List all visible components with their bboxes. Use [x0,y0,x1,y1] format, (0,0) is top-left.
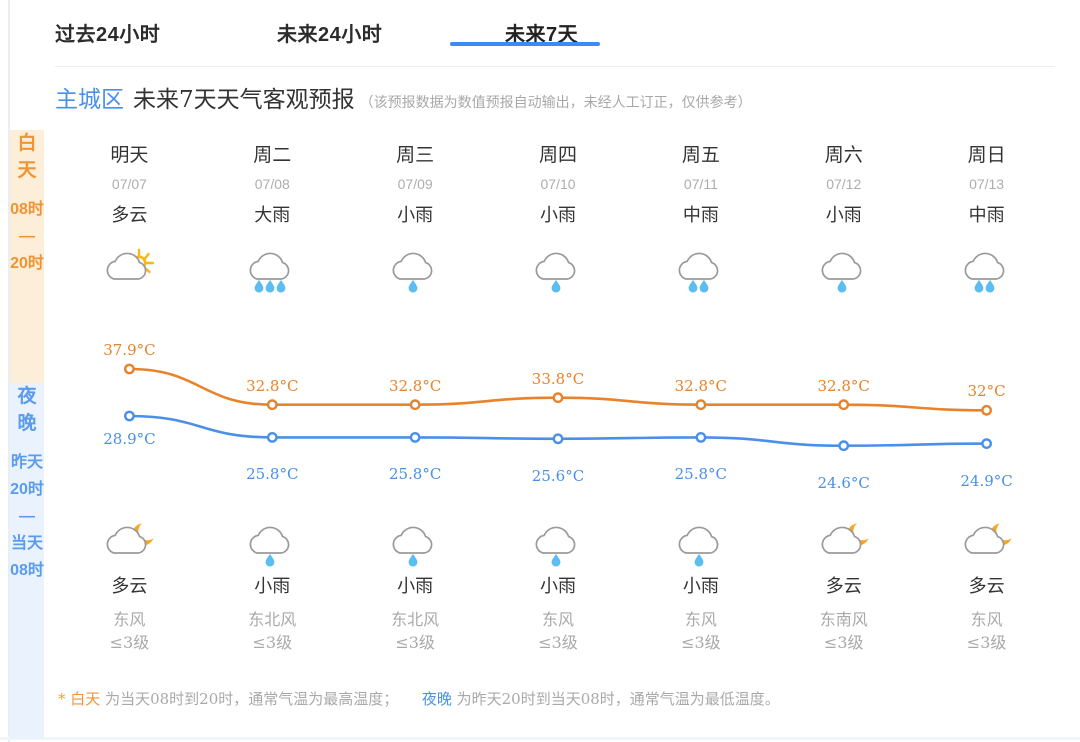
high-temp-label: 32°C [956,382,1018,400]
day-weekday: 周五 [629,140,772,167]
footer-note: * 白天 为当天08时到20时，通常气温为最高温度； 夜晚 为昨天20时到当天0… [58,688,1058,709]
spacer [10,184,44,196]
forecast-title: 未来7天天气客观预报 [133,80,355,114]
day-header-row: 明天07/07多云周二07/08大雨周三07/09小雨周四07/10小雨周五07… [58,140,1058,250]
low-temp-label: 28.9°C [98,430,160,448]
day-column[interactable]: 周六07/12小雨 [772,140,915,250]
night-condition: 多云 [58,572,201,598]
cloud-light-rain-icon [487,522,630,574]
day-weekday: 周二 [201,140,344,167]
day-column[interactable]: 周日07/13中雨 [915,140,1058,250]
cloud-moon-icon [915,522,1058,574]
wind-level: ≤3级 [395,633,435,652]
wind-direction: 东风 [685,610,717,629]
wind-level: ≤3级 [824,633,864,652]
wind-info: 东风≤3级 [629,608,772,654]
day-condition: 小雨 [487,201,630,227]
tab-next-24h[interactable]: 未来24小时 [277,18,382,47]
wind-info: 东风≤3级 [58,608,201,654]
wind-level: ≤3级 [967,633,1007,652]
tab-bar-divider [55,66,1055,67]
footer-asterisk: * [58,690,66,708]
tab-past-24h[interactable]: 过去24小时 [55,18,160,47]
day-date: 07/12 [772,176,915,192]
page-title: 主城区 未来7天天气客观预报 （该预报数据为数值预报自动输出，未经人工订正，仅供… [55,80,752,114]
wind-info: 东北风≤3级 [344,608,487,654]
footer-night-word: 夜晚 [422,690,452,708]
wind-direction: 东北风 [391,610,439,629]
high-temp-label: 32.8°C [813,377,875,395]
bottom-divider [0,737,1080,740]
day-column[interactable]: 周五07/11中雨 [629,140,772,250]
night-column[interactable]: 小雨东北风≤3级 [344,572,487,667]
day-date: 07/11 [629,176,772,192]
day-date: 07/10 [487,176,630,192]
day-column[interactable]: 周四07/10小雨 [487,140,630,250]
night-icon-row [58,522,1058,574]
night-column[interactable]: 小雨东北风≤3级 [201,572,344,667]
day-column[interactable]: 明天07/07多云 [58,140,201,250]
cloud-light-rain-icon [344,522,487,574]
day-condition: 小雨 [772,201,915,227]
day-condition: 中雨 [915,201,1058,227]
side-rail-night-line3: 当天 [10,530,44,557]
day-date: 07/13 [915,176,1058,192]
wind-direction: 东风 [113,610,145,629]
night-condition: 小雨 [629,572,772,598]
wind-level: ≤3级 [538,633,578,652]
temperature-chart: 37.9°C32.8°C32.8°C33.8°C32.8°C32.8°C32°C… [0,330,1080,510]
footer-text-2: 为昨天20时到当天08时，通常气温为最低温度。 [457,690,780,708]
wind-direction: 东南风 [820,610,868,629]
low-temp-label: 24.9°C [956,472,1018,490]
night-column[interactable]: 多云东风≤3级 [58,572,201,667]
side-rail-daytime-label: 白天 [10,130,44,184]
cloud-light-rain-icon [629,522,772,574]
night-condition: 小雨 [201,572,344,598]
footer-daytime-word: 白天 [70,690,100,708]
day-condition: 大雨 [201,201,344,227]
city-name[interactable]: 主城区 [55,80,124,114]
high-temp-label: 32.8°C [670,377,732,395]
wind-direction: 东风 [971,610,1003,629]
night-column[interactable]: 多云东风≤3级 [915,572,1058,667]
wind-level: ≤3级 [252,633,292,652]
day-date: 07/07 [58,176,201,192]
side-rail-daytime-to: 20时 [10,250,44,277]
footer-text-1: 为当天08时到20时，通常气温为最高温度； [105,690,398,708]
low-temp-label: 25.8°C [384,465,446,483]
day-date: 07/08 [201,176,344,192]
day-column[interactable]: 周二07/08大雨 [201,140,344,250]
day-condition: 多云 [58,201,201,227]
wind-info: 东风≤3级 [487,608,630,654]
side-rail-daytime-dash: — [10,223,44,250]
night-column[interactable]: 小雨东风≤3级 [487,572,630,667]
daytime-icon-row [58,248,1058,304]
side-rail-daytime-from: 08时 [10,196,44,223]
day-condition: 中雨 [629,201,772,227]
night-condition: 多云 [772,572,915,598]
day-weekday: 周三 [344,140,487,167]
low-temp-label: 25.8°C [241,465,303,483]
cloud-moon-icon [58,522,201,574]
low-temp-label: 24.6°C [813,474,875,492]
night-condition: 小雨 [344,572,487,598]
wind-direction: 东北风 [248,610,296,629]
cloud-moderate-rain-icon [915,248,1058,304]
day-weekday: 明天 [58,140,201,167]
high-temp-label: 37.9°C [98,341,160,359]
cloud-heavy-rain-icon [201,248,344,304]
day-weekday: 周六 [772,140,915,167]
cloud-light-rain-icon [772,248,915,304]
cloud-moon-icon [772,522,915,574]
low-temp-label: 25.6°C [527,467,589,485]
active-tab-indicator [450,42,600,46]
night-condition: 多云 [915,572,1058,598]
wind-info: 东北风≤3级 [201,608,344,654]
wind-direction: 东风 [542,610,574,629]
night-condition: 小雨 [487,572,630,598]
wind-level: ≤3级 [110,633,150,652]
wind-level: ≤3级 [681,633,721,652]
weather-forecast-panel: 过去24小时 未来24小时 未来7天 主城区 未来7天天气客观预报 （该预报数据… [0,0,1080,742]
day-weekday: 周四 [487,140,630,167]
forecast-disclaimer: （该预报数据为数值预报自动输出，未经人工订正，仅供参考） [360,92,752,112]
cloud-light-rain-icon [201,522,344,574]
high-temp-label: 32.8°C [241,377,303,395]
side-rail-night-line4: 08时 [10,557,44,584]
cloud-sun-icon [58,248,201,304]
cloud-light-rain-icon [344,248,487,304]
day-weekday: 周日 [915,140,1058,167]
cloud-moderate-rain-icon [629,248,772,304]
day-condition: 小雨 [344,201,487,227]
night-condition-row: 多云东风≤3级小雨东北风≤3级小雨东北风≤3级小雨东风≤3级小雨东风≤3级多云东… [58,572,1058,667]
wind-info: 东风≤3级 [915,608,1058,654]
cloud-light-rain-icon [487,248,630,304]
day-column[interactable]: 周三07/09小雨 [344,140,487,250]
high-temp-label: 32.8°C [384,377,446,395]
low-temp-label: 25.8°C [670,465,732,483]
night-column[interactable]: 多云东南风≤3级 [772,572,915,667]
day-date: 07/09 [344,176,487,192]
night-column[interactable]: 小雨东风≤3级 [629,572,772,667]
high-temp-label: 33.8°C [527,370,589,388]
wind-info: 东南风≤3级 [772,608,915,654]
